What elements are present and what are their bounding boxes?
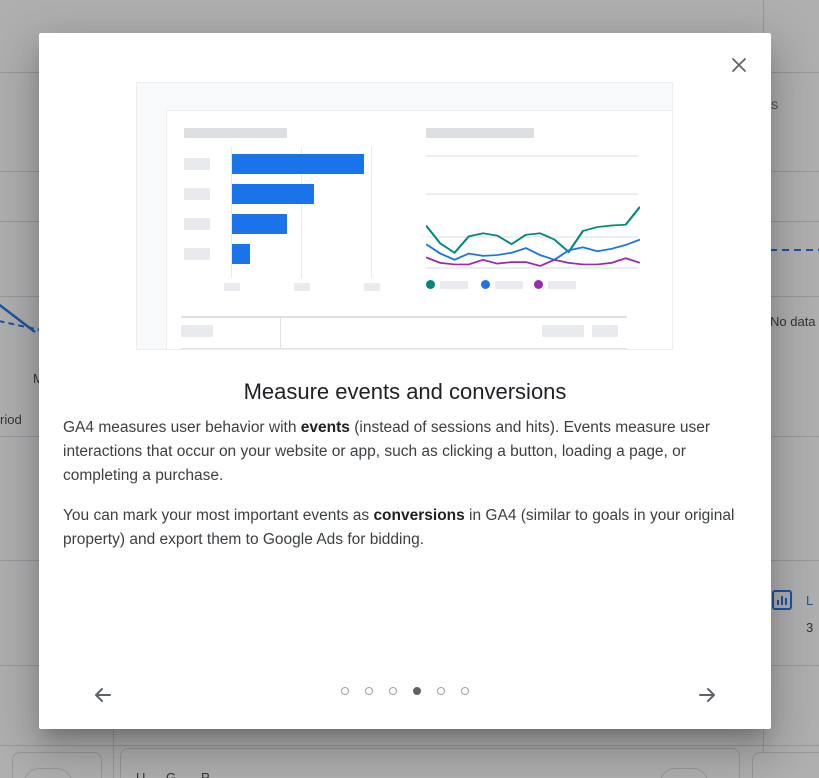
- legend-dot: [481, 280, 490, 289]
- placeholder-axis-label: [184, 248, 210, 260]
- gridline: [426, 193, 638, 195]
- close-icon: [729, 55, 749, 75]
- step-dot-2[interactable]: [365, 687, 373, 695]
- arrow-right-icon: [695, 683, 719, 707]
- bar: [232, 214, 287, 234]
- illustration-line-panel: [412, 111, 667, 307]
- gridline: [426, 155, 638, 157]
- dialog-body: GA4 measures user behavior with events (…: [63, 416, 747, 552]
- placeholder-axis-label: [184, 218, 210, 230]
- step-dot-4[interactable]: [413, 687, 421, 695]
- bar: [232, 154, 364, 174]
- placeholder-title: [184, 128, 287, 138]
- previous-button[interactable]: [79, 671, 127, 719]
- screen: ESNo datariodML3UGP: [0, 0, 819, 778]
- placeholder-tick: [294, 283, 310, 291]
- illustration-canvas: [166, 110, 672, 349]
- step-dot-5[interactable]: [437, 687, 445, 695]
- placeholder-axis-label: [184, 188, 210, 200]
- legend-dot: [426, 280, 435, 289]
- step-dot-3[interactable]: [389, 687, 397, 695]
- legend-label-placeholder: [495, 281, 523, 289]
- placeholder-axis-label: [184, 158, 210, 170]
- close-button[interactable]: [719, 45, 759, 85]
- table-rule: [181, 316, 627, 318]
- legend-label-placeholder: [548, 281, 576, 289]
- table-rule: [181, 348, 627, 349]
- step-dot-1[interactable]: [341, 687, 349, 695]
- illustration-table: [167, 307, 672, 349]
- illustration-bar-panel: [167, 111, 412, 307]
- line-chart-svg: [426, 199, 640, 273]
- placeholder-tick: [224, 283, 240, 291]
- paragraph-text: You can mark your most important events …: [63, 507, 373, 524]
- gridline: [371, 147, 372, 278]
- table-cell-placeholder: [592, 325, 618, 337]
- dialog-title: Measure events and conversions: [39, 378, 771, 406]
- next-button[interactable]: [683, 671, 731, 719]
- table-column-divider: [280, 316, 281, 349]
- step-dot-6[interactable]: [461, 687, 469, 695]
- table-cell-placeholder: [542, 325, 584, 337]
- emphasis-term: conversions: [373, 507, 464, 524]
- bar: [232, 184, 314, 204]
- dialog-paragraph: You can mark your most important events …: [63, 504, 747, 552]
- legend-dot: [534, 280, 543, 289]
- placeholder-title: [426, 128, 534, 138]
- dialog-paragraph: GA4 measures user behavior with events (…: [63, 416, 747, 488]
- paragraph-text: GA4 measures user behavior with: [63, 419, 301, 436]
- placeholder-tick: [364, 283, 380, 291]
- bar: [232, 244, 250, 264]
- onboarding-dialog: Measure events and conversions GA4 measu…: [39, 33, 771, 729]
- illustration: [136, 82, 673, 350]
- table-cell-placeholder: [181, 325, 213, 337]
- legend-label-placeholder: [440, 281, 468, 289]
- line-series-1: [426, 207, 640, 253]
- emphasis-term: events: [301, 419, 350, 436]
- step-dots: [39, 687, 771, 695]
